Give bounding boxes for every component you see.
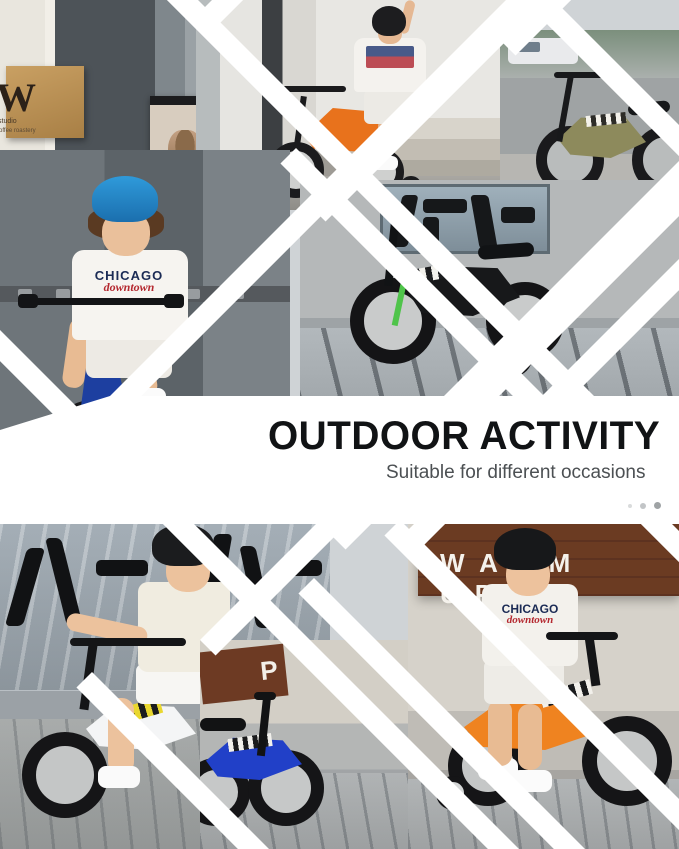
rider-shorts <box>364 90 422 124</box>
shirt-text-secondary: downtown <box>492 614 568 626</box>
photo-bottom-right-image: WARM UP CHICAGO downtown <box>408 520 679 849</box>
banner-subtitle: Suitable for different occasions <box>386 462 645 484</box>
bike-front-wheel <box>582 716 672 806</box>
wooden-sign-text: P <box>259 654 279 687</box>
rider-right-leg <box>518 704 542 770</box>
rider-left-leg <box>488 700 512 766</box>
rider-leg <box>108 698 134 774</box>
training-wheel <box>496 340 532 376</box>
van-window <box>514 42 540 52</box>
photo-middle-right-image <box>300 180 679 410</box>
handlebar-grip-left <box>18 294 38 308</box>
photo-bottom-center: P <box>200 640 440 849</box>
carousel-dot-1[interactable] <box>628 504 632 508</box>
shirt-text-secondary: downtown <box>86 280 172 294</box>
bike-handlebar <box>386 210 400 218</box>
training-wheel <box>436 776 470 810</box>
rider-leg <box>378 120 391 160</box>
photo-bottom-center-image: P <box>200 640 440 849</box>
carousel-dot-3-active[interactable] <box>654 502 661 509</box>
carousel-indicator[interactable] <box>628 502 661 509</box>
bike-handlebar <box>274 86 346 92</box>
bike-handlebar <box>24 298 180 305</box>
shop-sign-sub-1: studio <box>0 118 17 125</box>
bike-seat <box>200 718 246 731</box>
bike-handlebar <box>554 72 624 78</box>
rider-shirt-graphic <box>366 46 414 68</box>
bike-handlebar <box>70 638 186 646</box>
bike-seat <box>628 100 671 116</box>
rider-shorts <box>484 660 564 704</box>
photo-bottom-right: WARM UP CHICAGO downtown <box>408 520 679 849</box>
bike-front-wheel <box>22 732 108 818</box>
bike-handlebar <box>546 632 618 640</box>
rider-helmet <box>372 6 406 36</box>
shop-sign-letter: W <box>0 74 36 121</box>
banner-text-panel: OUTDOOR ACTIVITY Suitable for different … <box>0 396 679 524</box>
rider-shoe <box>98 766 140 788</box>
product-lifestyle-collage: W studio coffee roastery COFFEE <box>0 0 679 849</box>
bike-handlebar <box>254 692 276 700</box>
photo-middle-right <box>300 180 679 410</box>
shop-sign-sub-2: coffee roastery <box>0 128 36 134</box>
rider-helmet <box>152 524 214 566</box>
carousel-dot-2[interactable] <box>640 503 646 509</box>
rider-shoe <box>372 156 398 170</box>
rider-helmet <box>494 528 556 570</box>
rider-helmet <box>92 176 158 222</box>
banner-title: OUTDOOR ACTIVITY <box>268 414 660 459</box>
handlebar-grip-right <box>164 294 184 308</box>
bike-seat <box>478 242 535 260</box>
wooden-shop-sign: W studio coffee roastery <box>6 66 84 138</box>
rider-right-shoe <box>512 770 552 792</box>
